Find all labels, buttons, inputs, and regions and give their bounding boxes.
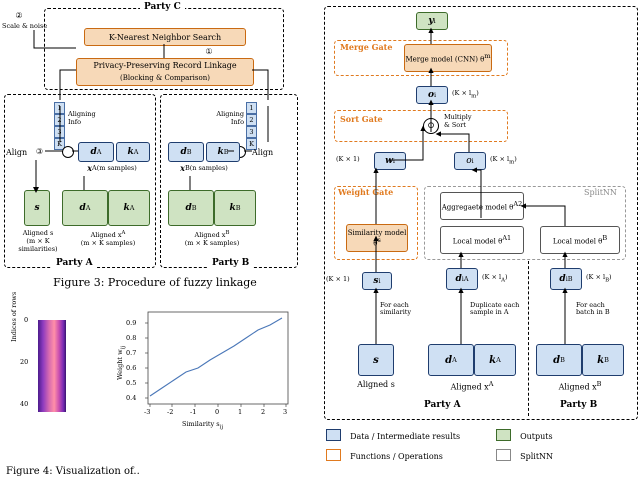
figure3-caption: Figure 3: Procedure of fuzzy linkage: [20, 276, 290, 289]
legend-swatch-data: [326, 429, 341, 441]
lineplot-xtick-1: 1: [238, 408, 242, 416]
legend-label-outputs: Outputs: [520, 432, 553, 441]
heatmap-image: [38, 320, 66, 412]
lineplot-ylabel: Weight wij: [116, 346, 126, 380]
right-connectors: [324, 6, 636, 418]
legend: Data / Intermediate results Outputs Func…: [326, 424, 626, 474]
lineplot-ytick-05: 0.5: [126, 379, 136, 387]
legend-item-2: Functions / Operations: [326, 444, 443, 463]
xlabel-sub: ij: [220, 424, 223, 430]
lineplot-ytick-06: 0.6: [126, 364, 136, 372]
legend-label-functions: Functions / Operations: [350, 452, 443, 461]
lineplot-ytick-07: 0.7: [126, 349, 136, 357]
chart-area: Indices of rows 0 20 40: [10, 300, 306, 450]
lineplot-ytick-04: 0.4: [126, 394, 136, 402]
lineplot-xtick--3: -3: [144, 408, 150, 416]
legend-item-0: Data / Intermediate results: [326, 424, 460, 443]
heatmap-ytick-40: 40: [20, 400, 28, 408]
legend-item-1: Outputs: [496, 424, 553, 443]
figure-root: Party C K-Nearest Neighbor Search Privac…: [0, 0, 640, 484]
legend-swatch-outputs: [496, 429, 511, 441]
lineplot-xtick--2: -2: [167, 408, 173, 416]
lineplot-xtick-3: 3: [283, 408, 287, 416]
lineplot-xlabel: Similarity sij: [182, 420, 223, 430]
heatmap-ylabel: Indices of rows: [10, 292, 18, 342]
legend-swatch-splitnn: [496, 449, 511, 461]
lineplot-svg: [110, 308, 300, 438]
right-diagram: yi Merge Gate Merge model (CNN) θm oi (K…: [324, 6, 636, 418]
legend-label-data: Data / Intermediate results: [350, 432, 460, 441]
lineplot-ytick-08: 0.8: [126, 334, 136, 342]
legend-label-splitnn: SplitNN: [520, 452, 553, 461]
ylabel-text: Weight w: [116, 349, 124, 380]
legend-swatch-functions: [326, 449, 341, 461]
heatmap-ytick-20: 20: [20, 358, 28, 366]
legend-item-3: SplitNN: [496, 444, 553, 463]
left-diagram: Party C K-Nearest Neighbor Search Privac…: [0, 0, 300, 280]
left-connectors: [0, 0, 300, 280]
lineplot-xtick-2: 2: [261, 408, 265, 416]
lineplot-xtick--1: -1: [190, 408, 196, 416]
figure4-caption: Figure 4: Visualization of..: [6, 466, 140, 477]
ylabel-sub: ij: [120, 346, 126, 349]
heatmap-ytick-0: 0: [24, 316, 28, 324]
lineplot-ytick-09: 0.9: [126, 319, 136, 327]
xlabel-text: Similarity s: [182, 420, 220, 428]
lineplot-xtick-0: 0: [215, 408, 219, 416]
lineplot: -3 -2 -1 0 1 2 3 0.4 0.5 0.6 0.7 0.8 0.9…: [110, 308, 300, 438]
